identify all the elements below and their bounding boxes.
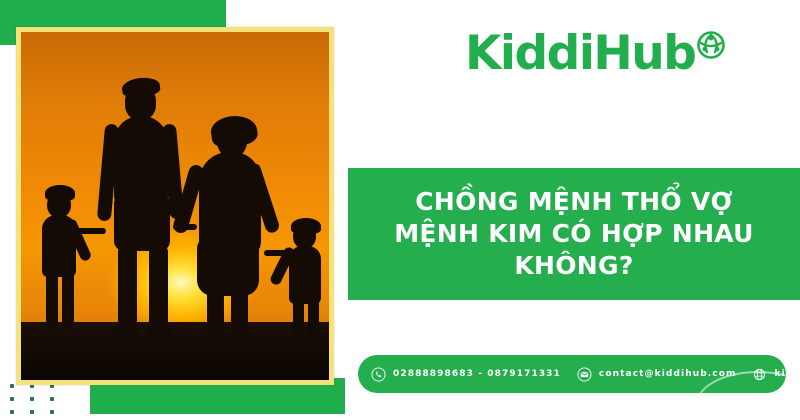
contact-website[interactable]: kiddihub.com	[752, 367, 786, 382]
mother-leg-right	[231, 284, 248, 342]
mother-hair	[209, 113, 259, 149]
mother-leg-left	[207, 284, 224, 342]
mother-skirt	[197, 238, 259, 296]
father-torso	[114, 116, 168, 206]
globe-people-icon	[696, 31, 726, 66]
logo-wordmark: KiddiHub	[465, 30, 695, 77]
title-banner: CHỒNG MỆNH THỔ VỢ MỆNH KIM CÓ HỢP NHAU K…	[348, 168, 800, 300]
contact-email[interactable]: contact@kiddihub.com	[577, 367, 737, 382]
child-right-leg-right	[308, 296, 319, 342]
father-foot-right	[147, 328, 173, 340]
poster-canvas: KiddiHub CHỒNG MỆNH THỔ VỢ MỆNH KIM CÓ H…	[0, 0, 800, 420]
contact-email-label: contact@kiddihub.com	[599, 369, 737, 379]
father-foot-left	[113, 327, 140, 340]
family-silhouette-sunset-photo	[16, 27, 334, 385]
page-title-line-2: MỆNH KIM CÓ HỢP NHAU	[394, 218, 754, 250]
kiddihub-logo[interactable]: KiddiHub	[465, 30, 726, 77]
envelope-icon	[577, 367, 592, 382]
contact-phone-label: 02888898683 - 0879171331	[393, 369, 561, 379]
contact-website-label: kiddihub.com	[774, 369, 786, 379]
child-left-body	[42, 215, 76, 277]
page-title: CHỒNG MỆNH THỔ VỢ MỆNH KIM CÓ HỢP NHAU K…	[378, 186, 770, 282]
photo-inner	[21, 32, 329, 380]
page-title-line-1: CHỒNG MỆNH THỔ VỢ	[394, 186, 754, 218]
father-leg-left	[118, 244, 137, 336]
child-right-hair	[291, 218, 321, 234]
child-left-hair	[45, 185, 75, 201]
photo-ground	[21, 322, 329, 380]
contact-phone[interactable]: 02888898683 - 0879171331	[358, 367, 561, 382]
child-right-leg-left	[293, 296, 304, 342]
contact-footer-bar: 02888898683 - 0879171331 contact@kiddihu…	[358, 355, 786, 393]
page-title-line-3: KHÔNG?	[394, 250, 754, 282]
globe-icon	[752, 367, 767, 382]
child-left-leg-left	[46, 270, 58, 328]
child-right-body	[289, 246, 321, 304]
child-left-leg-right	[62, 270, 74, 328]
father-leg-right	[149, 244, 168, 336]
phone-icon	[371, 367, 386, 382]
father-shorts	[114, 197, 170, 251]
